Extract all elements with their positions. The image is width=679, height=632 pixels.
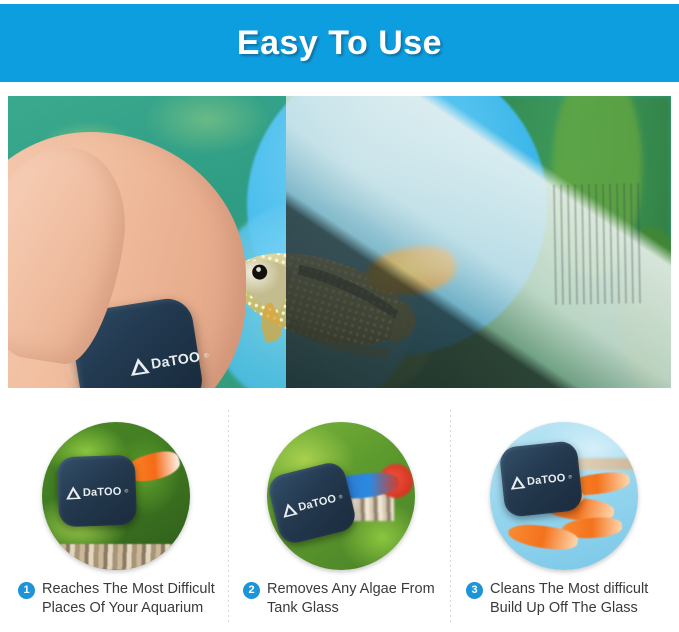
datoo-logo: DaTOO ® xyxy=(280,490,344,518)
card-divider xyxy=(450,410,451,624)
feature-caption-2: 2 Removes Any Algae From Tank Glass xyxy=(243,580,448,618)
caption-text-2: Removes Any Algae From Tank Glass xyxy=(267,580,448,618)
brand-name: DaTOO xyxy=(297,493,337,514)
gravel-substrate xyxy=(42,544,190,570)
datoo-logo: DaTOO ® xyxy=(509,471,572,490)
registered-mark: ® xyxy=(203,352,209,360)
step-badge-3: 3 xyxy=(466,582,483,599)
hero-image: DaTOO ® xyxy=(8,96,671,388)
feature-card-1: DaTOO ® 1 Reaches The Most Difficult Pla… xyxy=(6,404,225,632)
datoo-logo: DaTOO ® xyxy=(65,485,128,500)
step-badge-1: 1 xyxy=(18,582,35,599)
registered-mark: ® xyxy=(338,494,343,501)
feature-cards: DaTOO ® 1 Reaches The Most Difficult Pla… xyxy=(0,404,679,632)
triangle-mountain-icon xyxy=(128,357,150,376)
feature-card-2: DaTOO ® 2 Removes Any Algae From Tank Gl… xyxy=(231,404,450,632)
feature-caption-3: 3 Cleans The Most difficult Build Up Off… xyxy=(466,580,671,618)
feature-thumbnail-1: DaTOO ® xyxy=(42,422,190,570)
feature-card-3: DaTOO ® 3 Cleans The Most difficult Buil… xyxy=(454,404,673,632)
triangle-mountain-icon xyxy=(509,476,525,490)
datoo-logo: DaTOO ® xyxy=(128,347,209,376)
datoo-device: DaTOO ® xyxy=(56,455,136,528)
card-divider xyxy=(228,410,229,624)
caption-line-2: Places Of Your Aquarium xyxy=(42,600,203,616)
datoo-device: DaTOO ® xyxy=(498,440,583,518)
caption-line-1: Cleans The Most difficult xyxy=(490,581,648,597)
registered-mark: ® xyxy=(568,474,572,480)
header-banner: Easy To Use xyxy=(0,4,679,82)
brand-name: DaTOO xyxy=(82,486,121,499)
brand-name: DaTOO xyxy=(526,472,566,488)
feature-caption-1: 1 Reaches The Most Difficult Places Of Y… xyxy=(18,580,223,618)
registered-mark: ® xyxy=(124,488,128,494)
triangle-mountain-icon xyxy=(65,486,80,500)
caption-line-1: Reaches The Most Difficult xyxy=(42,581,215,597)
caption-text-1: Reaches The Most Difficult Places Of You… xyxy=(42,580,223,618)
feature-thumbnail-3: DaTOO ® xyxy=(490,422,638,570)
caption-text-3: Cleans The Most difficult Build Up Off T… xyxy=(490,580,671,618)
triangle-mountain-icon xyxy=(280,502,298,518)
feature-thumbnail-2: DaTOO ® xyxy=(267,422,415,570)
caption-line-2: Build Up Off The Glass xyxy=(490,600,638,616)
brand-name: DaTOO xyxy=(150,349,201,372)
caption-line-1: Removes Any Algae xyxy=(267,581,397,597)
hero-filter-grille xyxy=(553,183,645,305)
page-title: Easy To Use xyxy=(237,24,442,63)
step-badge-2: 2 xyxy=(243,582,260,599)
